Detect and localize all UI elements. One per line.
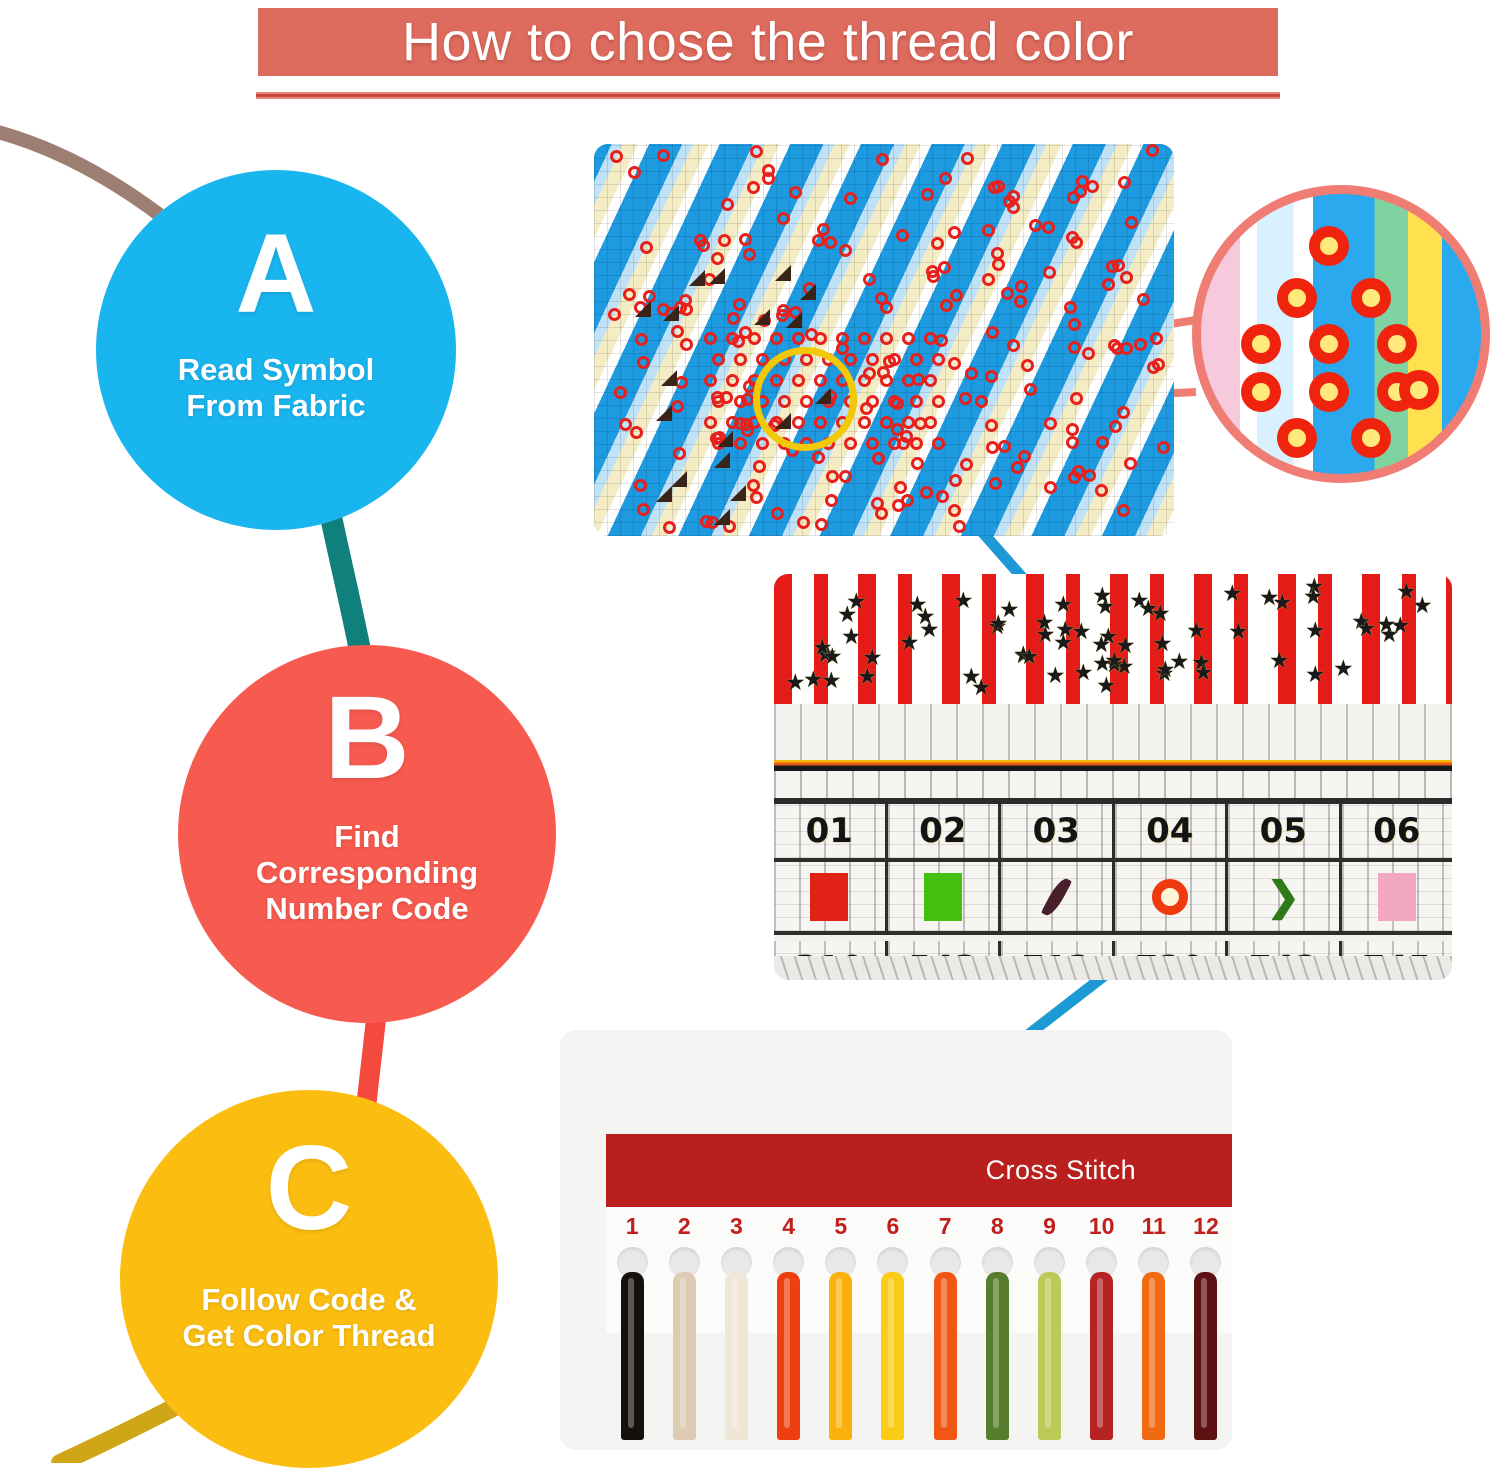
chart-star-icon: ★ xyxy=(1272,591,1293,614)
fabric-dark-wedge xyxy=(635,301,651,317)
magnifier-circle xyxy=(1192,185,1490,483)
chart-star-icon: ★ xyxy=(841,625,862,648)
chart-star-icon: ★ xyxy=(1155,658,1176,681)
chart-star-icon: ★ xyxy=(1333,657,1354,680)
fabric-ring-symbol xyxy=(762,172,775,185)
page-title: How to chose the thread color xyxy=(402,15,1134,69)
fabric-ring-symbol xyxy=(985,419,998,432)
fabric-ring-symbol xyxy=(910,437,923,450)
fabric-ring-symbol xyxy=(733,298,746,311)
step-circle-b[interactable]: B Find Corresponding Number Code xyxy=(178,645,556,1023)
fabric-ring-symbol xyxy=(888,395,901,408)
fabric-dark-wedge xyxy=(656,486,672,502)
chart-star-icon: ★ xyxy=(1019,645,1040,668)
chart-star-icon: ★ xyxy=(821,669,842,692)
step-circle-a[interactable]: A Read Symbol From Fabric xyxy=(96,170,456,530)
chart-star-icon: ★ xyxy=(1091,633,1112,656)
fabric-ring-symbol xyxy=(920,486,933,499)
fabric-ring-symbol xyxy=(982,224,995,237)
thread-number-label: 7 xyxy=(939,1215,952,1238)
fabric-ring-symbol xyxy=(694,234,707,247)
magnified-ring-symbol xyxy=(1309,226,1349,266)
chart-symbol-cell xyxy=(774,862,888,935)
chart-star-icon: ★ xyxy=(899,631,920,654)
thread-column[interactable]: 9 xyxy=(1023,1207,1075,1450)
fabric-ring-symbol xyxy=(1157,441,1170,454)
chart-star-icon: ★ xyxy=(1356,617,1377,640)
fabric-ring-symbol xyxy=(711,252,724,265)
fabric-ring-symbol xyxy=(1109,420,1122,433)
fabric-ring-symbol xyxy=(902,416,915,429)
fabric-ring-symbol xyxy=(700,515,713,528)
chart-star-icon: ★ xyxy=(1303,585,1324,608)
fabric-ring-symbol xyxy=(872,452,885,465)
step-b-label: Find Corresponding Number Code xyxy=(256,819,478,927)
fabric-ring-symbol xyxy=(679,294,692,307)
chart-star-icon: ★ xyxy=(1193,661,1214,684)
fabric-ring-symbol xyxy=(1082,347,1095,360)
thread-number-label: 10 xyxy=(1089,1215,1115,1238)
fabric-ring-symbol xyxy=(992,258,1005,271)
chart-star-icon: ★ xyxy=(1222,582,1243,605)
fabric-ring-symbol xyxy=(789,186,802,199)
fabric-ring-symbol xyxy=(812,451,825,464)
chart-color-swatch xyxy=(1378,873,1416,921)
magnified-ring-symbol xyxy=(1309,372,1349,412)
fabric-ring-symbol xyxy=(989,477,1002,490)
thread-number-label: 3 xyxy=(730,1215,743,1238)
step-b-letter: B xyxy=(324,679,409,797)
thread-number-label: 12 xyxy=(1193,1215,1219,1238)
chart-star-icon: ★ xyxy=(1376,613,1397,636)
thread-skein[interactable] xyxy=(725,1272,748,1440)
thread-card-banner: Cross Stitch xyxy=(606,1134,1232,1207)
fabric-ring-symbol xyxy=(704,374,717,387)
fabric-ring-symbol xyxy=(673,447,686,460)
thread-column[interactable]: 2 xyxy=(658,1207,710,1450)
fabric-ring-symbol xyxy=(1044,417,1057,430)
fabric-ring-symbol xyxy=(953,520,966,533)
chart-symbol-cell xyxy=(1342,862,1453,935)
fabric-ring-symbol xyxy=(888,353,901,366)
step-c-label: Follow Code & Get Color Thread xyxy=(182,1282,435,1354)
chart-number-cell: 04 xyxy=(1115,804,1229,862)
magnified-ring-symbol xyxy=(1351,278,1391,318)
fabric-symbol-layer xyxy=(594,144,1174,536)
fabric-ring-symbol xyxy=(637,356,650,369)
fabric-ring-symbol xyxy=(634,479,647,492)
chart-symbol-cell xyxy=(1115,862,1229,935)
thread-skein[interactable] xyxy=(986,1272,1009,1440)
thread-number-label: 6 xyxy=(887,1215,900,1238)
thread-skein[interactable] xyxy=(1090,1272,1113,1440)
fabric-ring-symbol xyxy=(748,332,761,345)
thread-column[interactable]: 12 xyxy=(1180,1207,1232,1450)
fabric-ring-symbol xyxy=(770,332,783,345)
chart-star-icon: ★ xyxy=(1305,663,1326,686)
fabric-ring-symbol xyxy=(961,152,974,165)
fabric-dark-wedge xyxy=(714,509,730,525)
chart-number-value: 05 xyxy=(1260,811,1307,851)
fabric-ring-symbol xyxy=(608,308,621,321)
fabric-ring-symbol xyxy=(948,226,961,239)
chart-symbol-cell xyxy=(1001,862,1115,935)
fabric-ring-symbol xyxy=(727,312,740,325)
fabric-ring-symbol xyxy=(610,150,623,163)
fabric-ring-symbol xyxy=(1066,436,1079,449)
fabric-dark-wedge xyxy=(709,268,725,284)
thread-number-label: 9 xyxy=(1043,1215,1056,1238)
fabric-ring-symbol xyxy=(750,145,763,158)
chart-star-icon: ★ xyxy=(1228,620,1249,643)
magnified-ring-symbol xyxy=(1399,370,1439,410)
fabric-ring-symbol xyxy=(671,400,684,413)
page-title-bar: How to chose the thread color xyxy=(258,8,1278,76)
fabric-ring-symbol xyxy=(839,470,852,483)
chart-divider-rule xyxy=(774,760,1452,771)
chart-star-icon: ★ xyxy=(1073,661,1094,684)
fabric-ring-symbol xyxy=(985,370,998,383)
chart-number-cell: 01 xyxy=(774,804,888,862)
fabric-ring-symbol xyxy=(747,181,760,194)
chart-star-icon: ★ xyxy=(1150,602,1171,625)
fabric-ring-symbol xyxy=(726,332,739,345)
fabric-ring-symbol xyxy=(1007,190,1020,203)
chart-spiral-binding xyxy=(774,956,1452,980)
fabric-ring-symbol xyxy=(939,172,952,185)
thread-number-label: 5 xyxy=(834,1215,847,1238)
fabric-ring-symbol xyxy=(739,233,752,246)
fabric-ring-symbol xyxy=(1043,266,1056,279)
fabric-ring-symbol xyxy=(1150,332,1163,345)
fabric-ring-symbol xyxy=(960,458,973,471)
thread-number-label: 2 xyxy=(678,1215,691,1238)
fabric-ring-symbol xyxy=(1108,339,1121,352)
chart-number-cell: 05 xyxy=(1228,804,1342,862)
fabric-ring-symbol xyxy=(949,474,962,487)
chart-number-row: 010203040506 xyxy=(774,804,1452,862)
fabric-ring-symbol xyxy=(1001,287,1014,300)
fabric-ring-symbol xyxy=(1134,338,1147,351)
thread-column[interactable]: 8 xyxy=(971,1207,1023,1450)
fabric-ring-symbol xyxy=(1068,318,1081,331)
chart-star-icon: ★ xyxy=(1269,649,1290,672)
fabric-ring-symbol xyxy=(825,494,838,507)
fabric-ring-symbol xyxy=(726,374,739,387)
chart-ring-icon xyxy=(1152,879,1188,915)
fabric-ring-symbol xyxy=(712,395,725,408)
chart-blank-band xyxy=(774,704,1452,766)
fabric-ring-symbol xyxy=(1095,484,1108,497)
fabric-ring-symbol xyxy=(1070,236,1083,249)
fabric-ring-symbol xyxy=(894,481,907,494)
chart-number-value: 06 xyxy=(1373,811,1420,851)
fabric-ring-symbol xyxy=(771,507,784,520)
fabric-ring-symbol xyxy=(998,440,1011,453)
fabric-ring-symbol xyxy=(948,504,961,517)
thread-card-banner-label: Cross Stitch xyxy=(986,1155,1136,1186)
fabric-ring-symbol xyxy=(630,426,643,439)
fabric-ring-symbol xyxy=(988,181,1001,194)
fabric-ring-symbol xyxy=(635,333,648,346)
fabric-ring-symbol xyxy=(902,332,915,345)
chart-star-icon: ★ xyxy=(1053,593,1074,616)
fabric-ring-symbol xyxy=(1011,461,1024,474)
magnified-ring-symbol xyxy=(1277,278,1317,318)
chart-number-value: 03 xyxy=(1033,811,1080,851)
fabric-dark-wedge xyxy=(661,370,677,386)
fabric-ring-symbol xyxy=(1106,260,1119,273)
fabric-ring-symbol xyxy=(1117,406,1130,419)
fabric-ring-symbol xyxy=(936,490,949,503)
fabric-dark-wedge xyxy=(775,265,791,281)
fabric-ring-symbol xyxy=(1102,278,1115,291)
fabric-ring-symbol xyxy=(910,395,923,408)
fabric-ring-symbol xyxy=(880,301,893,314)
fabric-ring-symbol xyxy=(1118,176,1131,189)
step-c-letter: C xyxy=(266,1128,353,1248)
fabric-ring-symbol xyxy=(817,223,830,236)
fabric-ring-symbol xyxy=(1066,423,1079,436)
fabric-ring-symbol xyxy=(866,395,879,408)
fabric-ring-symbol xyxy=(1146,144,1159,157)
magnified-ring-symbol xyxy=(1241,324,1281,364)
fabric-ring-symbol xyxy=(940,299,953,312)
fabric-ring-symbol xyxy=(750,491,763,504)
thread-skein-row: 123456789101112 xyxy=(606,1207,1232,1450)
chart-number-cell: 06 xyxy=(1342,804,1453,862)
chart-star-icon: ★ xyxy=(1186,619,1207,642)
fabric-ring-symbol xyxy=(858,374,871,387)
thread-skein[interactable] xyxy=(881,1272,904,1440)
thread-skein[interactable] xyxy=(621,1272,644,1440)
magnified-ring-symbol xyxy=(1377,324,1417,364)
fabric-ring-symbol xyxy=(959,392,972,405)
fabric-ring-symbol xyxy=(975,395,988,408)
chart-number-cell: 02 xyxy=(888,804,1002,862)
fabric-ring-symbol xyxy=(866,353,879,366)
magnified-ring-symbol xyxy=(1241,372,1281,412)
fabric-ring-symbol xyxy=(921,188,934,201)
thread-skein[interactable] xyxy=(673,1272,696,1440)
fabric-ring-symbol xyxy=(986,441,999,454)
fabric-ring-symbol xyxy=(1014,295,1027,308)
fabric-ring-symbol xyxy=(1125,216,1138,229)
fabric-ring-symbol xyxy=(640,241,653,254)
thread-skein[interactable] xyxy=(1142,1272,1165,1440)
fabric-ring-symbol xyxy=(924,374,937,387)
chart-star-icon: ★ xyxy=(1092,584,1113,607)
fabric-ring-symbol xyxy=(910,353,923,366)
fabric-ring-symbol xyxy=(911,457,924,470)
fabric-ring-symbol xyxy=(628,166,641,179)
chart-number-cell: 03 xyxy=(1001,804,1115,862)
chart-color-swatch xyxy=(924,873,962,921)
fabric-ring-symbol xyxy=(880,374,893,387)
chart-spacer-row xyxy=(774,771,1452,798)
fabric-ring-symbol xyxy=(1018,450,1031,463)
chart-star-icon: ★ xyxy=(846,590,867,613)
connector-a-to-b xyxy=(330,512,362,660)
fabric-ring-symbol xyxy=(839,244,852,257)
thread-skein[interactable] xyxy=(829,1272,852,1440)
magnified-ring-symbol xyxy=(1309,324,1349,364)
fabric-ring-symbol xyxy=(712,353,725,366)
chart-color-swatch xyxy=(810,873,848,921)
fabric-ring-symbol xyxy=(965,367,978,380)
fabric-ring-symbol xyxy=(657,149,670,162)
fabric-ring-symbol xyxy=(901,494,914,507)
fabric-ring-symbol xyxy=(1068,471,1081,484)
thread-number-label: 4 xyxy=(782,1215,795,1238)
thread-card-photo: Cross Stitch 123456789101112 xyxy=(560,1030,1232,1450)
chart-symbol-cell xyxy=(888,862,1002,935)
fabric-ring-symbol xyxy=(880,416,893,429)
thread-skein[interactable] xyxy=(777,1272,800,1440)
thread-column[interactable]: 5 xyxy=(815,1207,867,1450)
chart-number-value: 04 xyxy=(1146,811,1193,851)
fabric-ring-symbol xyxy=(932,395,945,408)
thread-skein[interactable] xyxy=(1194,1272,1217,1440)
fabric-ring-symbol xyxy=(1152,358,1165,371)
fabric-ring-symbol xyxy=(777,212,790,225)
fabric-ring-symbol xyxy=(753,460,766,473)
fabric-ring-symbol xyxy=(1096,436,1109,449)
chart-star-icon: ★ xyxy=(1071,620,1092,643)
fabric-ring-symbol xyxy=(924,416,937,429)
code-chart-photo: ★★★★★★★★★★★★★★★★★★★★★★★★★★★★★★★★★★★★★★★★… xyxy=(774,574,1452,980)
fabric-ring-symbol xyxy=(924,332,937,345)
fabric-dark-wedge xyxy=(730,485,746,501)
chart-star-icon: ★ xyxy=(999,598,1020,621)
fabric-ring-symbol xyxy=(938,261,951,274)
thread-column[interactable]: 6 xyxy=(867,1207,919,1450)
fabric-ring-symbol xyxy=(875,507,888,520)
fabric-highlight-ring xyxy=(753,347,857,451)
thread-column[interactable]: 1 xyxy=(606,1207,658,1450)
thread-skein[interactable] xyxy=(934,1272,957,1440)
chart-star-icon: ★ xyxy=(1034,611,1055,634)
fabric-ring-symbol xyxy=(935,334,948,347)
fabric-ring-symbol xyxy=(950,289,963,302)
fabric-ring-symbol xyxy=(858,332,871,345)
fabric-ring-symbol xyxy=(932,437,945,450)
fabric-ring-symbol xyxy=(1137,293,1150,306)
chart-star-band: ★★★★★★★★★★★★★★★★★★★★★★★★★★★★★★★★★★★★★★★★… xyxy=(774,574,1452,704)
fabric-ring-symbol xyxy=(623,288,636,301)
thread-column[interactable]: 4 xyxy=(763,1207,815,1450)
fabric-dark-wedge xyxy=(689,270,705,286)
fabric-ring-symbol xyxy=(747,479,760,492)
chart-number-value: 02 xyxy=(919,811,966,851)
fabric-ring-symbol xyxy=(1021,359,1034,372)
fabric-ring-symbol xyxy=(671,325,684,338)
fabric-ring-symbol xyxy=(704,332,717,345)
fabric-ring-symbol xyxy=(948,357,961,370)
fabric-ring-symbol xyxy=(1064,301,1077,314)
step-a-letter: A xyxy=(236,218,317,330)
chart-star-icon: ★ xyxy=(915,605,936,628)
step-a-label: Read Symbol From Fabric xyxy=(178,352,374,424)
fabric-dark-wedge xyxy=(754,309,770,325)
fabric-ring-symbol xyxy=(663,521,676,534)
thread-number-label: 11 xyxy=(1142,1215,1166,1238)
fabric-ring-symbol xyxy=(743,248,756,261)
chart-star-icon: ★ xyxy=(785,671,806,694)
thread-number-label: 8 xyxy=(991,1215,1004,1238)
fabric-ring-symbol xyxy=(1024,383,1037,396)
fabric-ring-symbol xyxy=(1044,481,1057,494)
fabric-ring-symbol xyxy=(896,229,909,242)
chart-star-icon: ★ xyxy=(1096,674,1117,697)
fabric-ring-symbol xyxy=(704,416,717,429)
chart-star-icon: ★ xyxy=(953,589,974,612)
fabric-ring-symbol xyxy=(902,374,915,387)
fabric-ring-symbol xyxy=(866,437,879,450)
fabric-ring-symbol xyxy=(1124,457,1137,470)
fabric-ring-symbol xyxy=(844,353,857,366)
fabric-ring-symbol xyxy=(880,332,893,345)
fabric-ring-symbol xyxy=(932,353,945,366)
fabric-ring-symbol xyxy=(734,395,747,408)
fabric-ring-symbol xyxy=(619,418,632,431)
chart-leaf-icon xyxy=(1041,875,1072,918)
fabric-dark-wedge xyxy=(663,305,679,321)
fabric-ring-symbol xyxy=(1029,219,1042,232)
chart-star-icon: ★ xyxy=(822,645,843,668)
fabric-ring-symbol xyxy=(797,516,810,529)
fabric-ring-symbol xyxy=(637,503,650,516)
step-circle-c[interactable]: C Follow Code & Get Color Thread xyxy=(120,1090,498,1468)
fabric-ring-symbol xyxy=(876,153,889,166)
fabric-ring-symbol xyxy=(1120,271,1133,284)
fabric-dark-wedge xyxy=(714,452,730,468)
fabric-ring-symbol xyxy=(734,353,747,366)
thread-number-label: 1 xyxy=(626,1215,639,1238)
chart-star-icon: ★ xyxy=(1152,632,1173,655)
fabric-ring-symbol xyxy=(815,518,828,531)
fabric-ring-symbol xyxy=(721,198,734,211)
chart-symbol-row: ❯ xyxy=(774,862,1452,935)
fabric-ring-symbol xyxy=(756,437,769,450)
thread-skein[interactable] xyxy=(1038,1272,1061,1440)
thread-column[interactable]: 10 xyxy=(1076,1207,1128,1450)
fabric-ring-symbol xyxy=(826,470,839,483)
fabric-dark-wedge xyxy=(800,284,816,300)
fabric-ring-symbol xyxy=(986,326,999,339)
fabric-ring-symbol xyxy=(836,332,849,345)
thread-column[interactable]: 3 xyxy=(710,1207,762,1450)
fabric-ring-symbol xyxy=(888,437,901,450)
magnified-ring-symbol xyxy=(1277,418,1317,458)
fabric-ring-symbol xyxy=(1042,221,1055,234)
fabric-ring-symbol xyxy=(1070,392,1083,405)
chart-grid: 010203040506 ❯ 310543712720742745 xyxy=(774,771,1452,980)
fabric-ring-symbol xyxy=(982,273,995,286)
chart-star-icon: ★ xyxy=(857,665,878,688)
thread-column[interactable]: 7 xyxy=(919,1207,971,1450)
thread-column[interactable]: 11 xyxy=(1128,1207,1180,1450)
fabric-photo xyxy=(594,144,1174,536)
magnified-ring-symbol xyxy=(1351,418,1391,458)
chart-star-icon: ★ xyxy=(1045,664,1066,687)
fabric-dark-wedge xyxy=(717,431,733,447)
fabric-ring-symbol xyxy=(824,236,837,249)
fabric-ring-symbol xyxy=(680,338,693,351)
fabric-dark-wedge xyxy=(671,471,687,487)
fabric-ring-symbol xyxy=(931,237,944,250)
fabric-ring-symbol xyxy=(1076,175,1089,188)
